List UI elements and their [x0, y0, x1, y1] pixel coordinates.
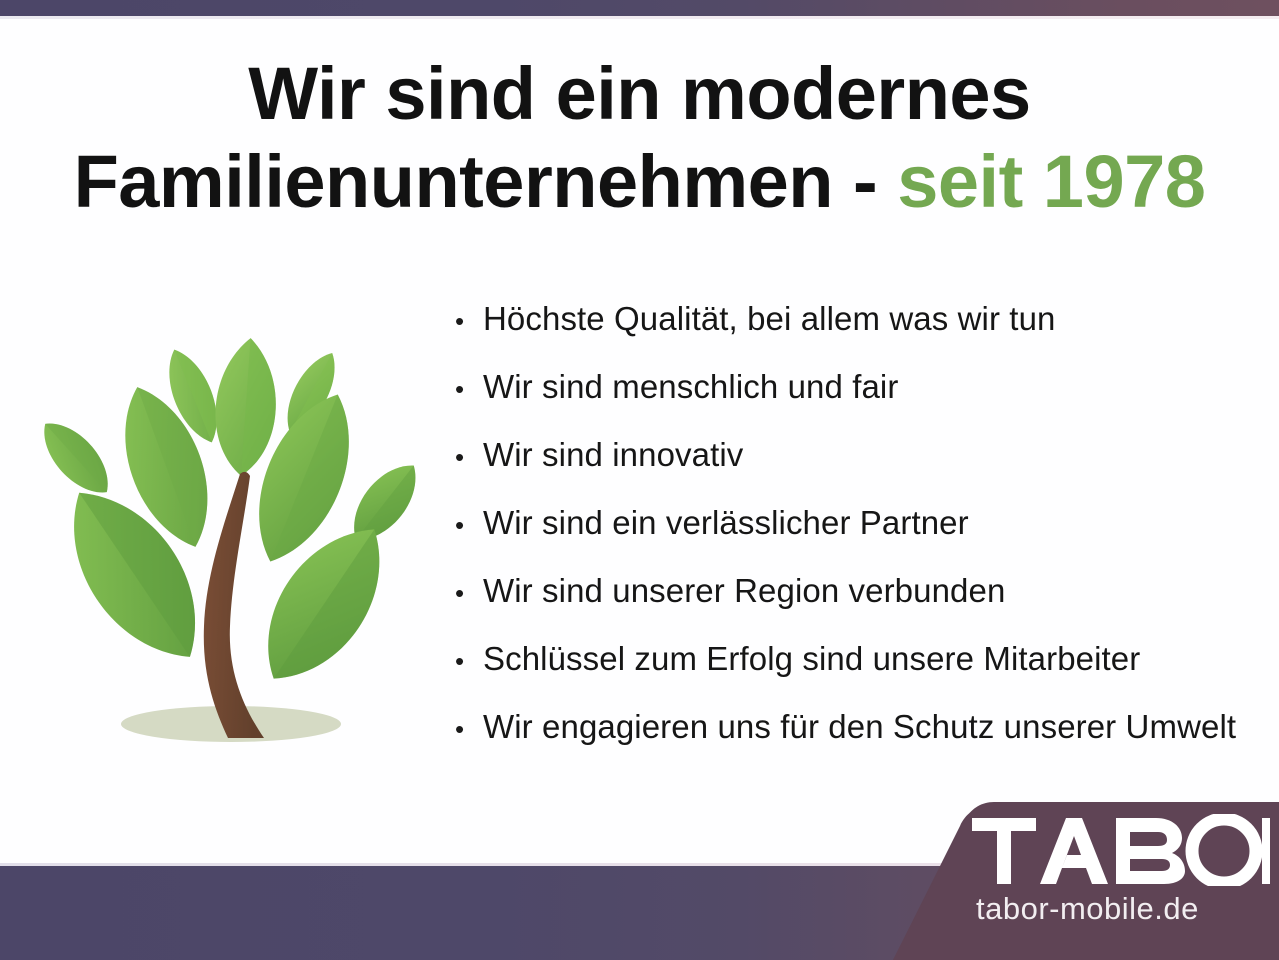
top-bar-seam: [0, 16, 1279, 19]
list-item-label: Höchste Qualität, bei allem was wir tun: [483, 300, 1055, 338]
bullet-icon: •: [455, 648, 483, 674]
tree-trunk: [204, 472, 264, 738]
list-item: • Wir sind ein verlässlicher Partner: [455, 504, 1275, 572]
list-item: • Höchste Qualität, bei allem was wir tu…: [455, 300, 1275, 368]
logo-domain: tabor-mobile.de: [976, 891, 1276, 927]
bullet-icon: •: [455, 716, 483, 742]
page-title-accent: seit 1978: [897, 140, 1205, 223]
bullet-icon: •: [455, 376, 483, 402]
list-item: • Wir engagieren uns für den Schutz unse…: [455, 708, 1275, 776]
list-item-label: Wir sind menschlich und fair: [483, 368, 898, 406]
list-item: • Wir sind innovativ: [455, 436, 1275, 504]
logo-badge[interactable]: tabor-mobile.de: [880, 796, 1279, 960]
page-title-line-2: Familienunternehmen - seit 1978: [0, 138, 1279, 226]
page-title: Wir sind ein modernes Familienunternehme…: [0, 50, 1279, 226]
top-accent-bar: [0, 0, 1279, 16]
list-item-label: Schlüssel zum Erfolg sind unsere Mitarbe…: [483, 640, 1140, 678]
list-item-label: Wir engagieren uns für den Schutz unsere…: [483, 708, 1236, 746]
list-item-label: Wir sind ein verlässlicher Partner: [483, 504, 969, 542]
list-item: • Schlüssel zum Erfolg sind unsere Mitar…: [455, 640, 1275, 708]
bullet-icon: •: [455, 308, 483, 334]
tree-illustration: [18, 326, 444, 762]
list-item-label: Wir sind unserer Region verbunden: [483, 572, 1005, 610]
page-title-line-2-plain: Familienunternehmen -: [74, 140, 898, 223]
leaf-top-center: [211, 336, 280, 478]
bullet-icon: •: [455, 444, 483, 470]
value-list: • Höchste Qualität, bei allem was wir tu…: [455, 300, 1275, 776]
bullet-icon: •: [455, 512, 483, 538]
page-title-line-1: Wir sind ein modernes: [0, 50, 1279, 138]
list-item: • Wir sind unserer Region verbunden: [455, 572, 1275, 640]
leaf-far-left: [31, 411, 122, 505]
logo-wordmark: [970, 814, 1270, 886]
list-item-label: Wir sind innovativ: [483, 436, 743, 474]
bullet-icon: •: [455, 580, 483, 606]
list-item: • Wir sind menschlich und fair: [455, 368, 1275, 436]
slide-canvas: Wir sind ein modernes Familienunternehme…: [0, 0, 1279, 960]
